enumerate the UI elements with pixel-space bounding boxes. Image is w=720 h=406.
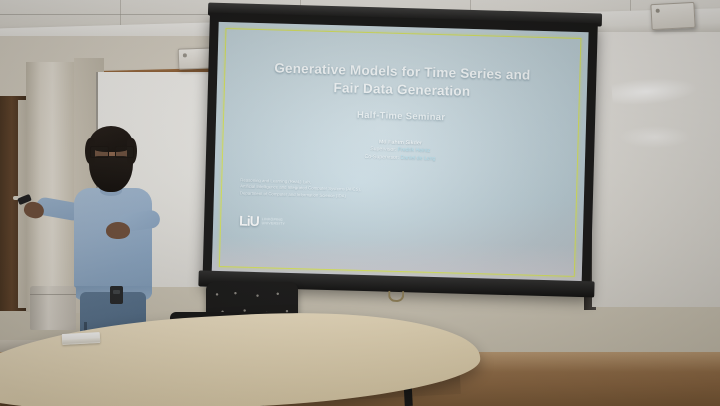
whiteboard-glare-secondary — [620, 126, 690, 148]
presenter-beard — [89, 156, 133, 192]
seminar-room-photo: Generative Models for Time Series and Fa… — [0, 0, 720, 406]
wall-speaker-right — [650, 2, 695, 30]
paper-stack[interactable] — [62, 332, 101, 345]
cosupervisor-name: Daniel de Leng — [401, 155, 436, 162]
liu-logo-mark: LiU — [239, 213, 259, 230]
supervisor-name: Fredrik Heintz — [398, 147, 430, 154]
glasses-icon — [90, 146, 132, 156]
presenter-right-hand — [106, 222, 130, 239]
cosupervisor-label: Co-Supervisor: — [364, 154, 399, 161]
liu-logo-line2: UNIVERSITY — [262, 221, 285, 226]
projector-screen: Generative Models for Time Series and Fa… — [202, 3, 600, 314]
trash-bin — [30, 286, 76, 330]
supervisor-label: Supervisor: — [370, 147, 396, 154]
presenter-torso — [74, 188, 152, 298]
whiteboard-right — [592, 32, 720, 307]
screen-pull-hook[interactable] — [388, 291, 404, 302]
liu-logo-wordmark: LINKÖPING UNIVERSITY — [262, 217, 286, 226]
presenter-belt-pouch — [110, 286, 123, 304]
linkoping-university-logo: LiU LINKÖPING UNIVERSITY — [239, 213, 285, 230]
projected-slide: Generative Models for Time Series and Fa… — [212, 22, 589, 284]
